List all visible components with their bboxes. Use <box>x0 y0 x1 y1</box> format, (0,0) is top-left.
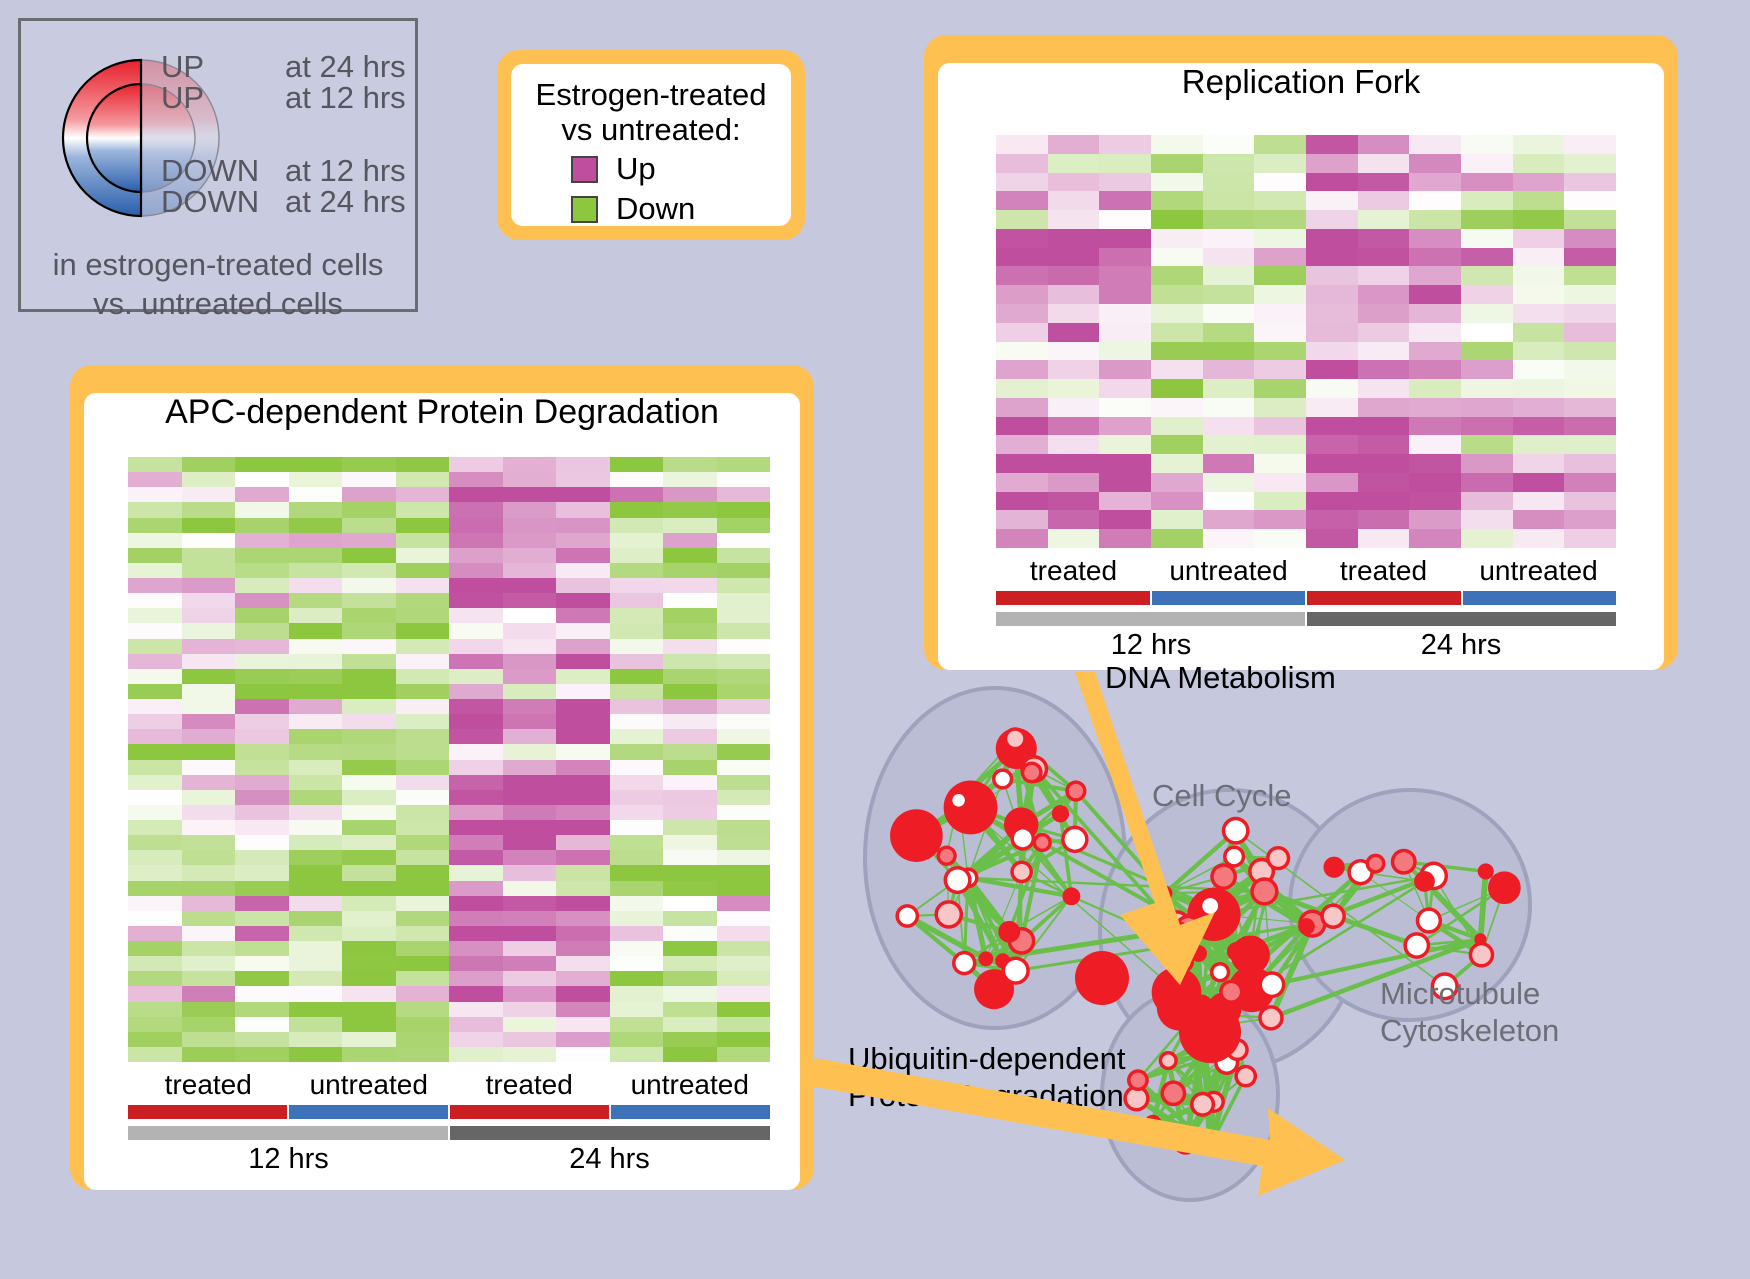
heatmap-cell <box>396 518 450 533</box>
heatmap-cell <box>396 1017 450 1032</box>
heatmap-cell <box>128 593 182 608</box>
heatmap-cell <box>235 593 289 608</box>
heatmap-cell <box>1513 248 1565 267</box>
network-node[interactable] <box>1203 1139 1217 1153</box>
heatmap-cell <box>556 744 610 759</box>
heatmap-cell <box>235 850 289 865</box>
key-time: at 12 hrs <box>285 155 411 186</box>
group-label: treated <box>128 1069 289 1101</box>
heatmap-cell <box>503 775 557 790</box>
network-node[interactable] <box>1065 829 1085 849</box>
heatmap-cell <box>663 790 717 805</box>
heatmap-cell <box>610 548 664 563</box>
heatmap-cell <box>1306 510 1358 529</box>
heatmap-cell <box>556 926 610 941</box>
network-node[interactable] <box>1062 887 1080 905</box>
heatmap-cell <box>128 911 182 926</box>
heatmap-cell <box>342 760 396 775</box>
network-node[interactable] <box>1127 1089 1146 1108</box>
heatmap-cell <box>717 775 771 790</box>
heatmap-cell <box>1203 304 1255 323</box>
heatmap-cell <box>128 729 182 744</box>
heatmap-cell <box>396 578 450 593</box>
heatmap-cell <box>342 518 396 533</box>
network-node[interactable] <box>1227 942 1246 961</box>
heatmap-cell <box>1461 154 1513 173</box>
network-node[interactable] <box>1324 907 1343 926</box>
heatmap-cell <box>556 714 610 729</box>
heatmap-cell <box>996 323 1048 342</box>
heatmap-cell <box>449 1002 503 1017</box>
heatmap-cell <box>342 941 396 956</box>
network-node[interactable] <box>1069 784 1083 798</box>
network-node[interactable] <box>944 781 998 835</box>
heatmap-cell <box>1461 210 1513 229</box>
network-node[interactable] <box>1144 1115 1162 1133</box>
heatmap-cell <box>289 775 343 790</box>
heatmap-cell <box>182 1047 236 1062</box>
heatmap-cell <box>1306 435 1358 454</box>
group-labels-replication-fork: treateduntreatedtreateduntreated <box>996 555 1616 587</box>
heatmap-cell <box>128 472 182 487</box>
network-node[interactable] <box>1202 898 1218 914</box>
heatmap-cell <box>396 865 450 880</box>
heatmap-cell <box>449 457 503 472</box>
network-node[interactable] <box>978 951 993 966</box>
heatmap-cell <box>1409 360 1461 379</box>
heatmap-cell <box>503 729 557 744</box>
heatmap-cell <box>342 578 396 593</box>
network-node[interactable] <box>1014 864 1030 880</box>
heatmap-cell <box>503 760 557 775</box>
heatmap-cell <box>1513 492 1565 511</box>
network-node[interactable] <box>1254 881 1275 902</box>
heatmap-cell <box>396 805 450 820</box>
heatmap-cell <box>289 926 343 941</box>
heatmap-cell <box>396 623 450 638</box>
heatmap-cell <box>396 971 450 986</box>
heatmap-cell <box>610 608 664 623</box>
heatmap-cell <box>663 593 717 608</box>
heatmap-cell <box>996 229 1048 248</box>
heatmap-cell <box>663 639 717 654</box>
network-node[interactable] <box>1323 857 1344 878</box>
heatmap-cell <box>663 986 717 1001</box>
heatmap-cell <box>996 360 1048 379</box>
heatmap-cell <box>503 457 557 472</box>
network-node[interactable] <box>1172 925 1186 939</box>
heatmap-cell <box>717 578 771 593</box>
heatmap-cell <box>396 775 450 790</box>
time-bar-segment <box>128 1126 450 1140</box>
heatmap-cell <box>1461 379 1513 398</box>
heatmap-cell <box>717 487 771 502</box>
heatmap-cell <box>503 593 557 608</box>
heatmap-cell <box>556 1002 610 1017</box>
heatmap-cell <box>182 911 236 926</box>
heatmap-cell <box>449 865 503 880</box>
group-label: untreated <box>1151 555 1306 587</box>
heatmap-cell <box>289 639 343 654</box>
heatmap-cell <box>1461 360 1513 379</box>
heatmap-cell <box>610 744 664 759</box>
heatmap-cell <box>449 790 503 805</box>
heatmap-cell <box>1254 266 1306 285</box>
network-node[interactable] <box>1227 849 1242 864</box>
heatmap-cell <box>235 744 289 759</box>
heatmap-cell <box>1203 154 1255 173</box>
heatmap-cell <box>1564 154 1616 173</box>
heatmap-cell <box>449 835 503 850</box>
heatmap-cell <box>663 1032 717 1047</box>
heatmap-cell <box>128 835 182 850</box>
network-node[interactable] <box>956 954 973 971</box>
network-node[interactable] <box>1394 852 1413 871</box>
heatmap-cell <box>717 639 771 654</box>
heatmap-cell <box>556 669 610 684</box>
panel-title-apc: APC-dependent Protein Degradation <box>84 393 800 432</box>
network-node[interactable] <box>1223 983 1240 1000</box>
heatmap-cell <box>1513 173 1565 192</box>
heatmap-cell <box>1099 529 1151 548</box>
heatmap-cell <box>1409 173 1461 192</box>
heatmap-cell <box>996 154 1048 173</box>
heatmap-cell <box>556 593 610 608</box>
heatmap-cell <box>1151 473 1203 492</box>
network-node[interactable] <box>1414 871 1435 892</box>
heatmap-cell <box>663 457 717 472</box>
heatmap-cell <box>610 881 664 896</box>
heatmap-cell <box>1048 510 1100 529</box>
heatmap-cell <box>663 760 717 775</box>
network-node[interactable] <box>1472 945 1491 964</box>
heatmap-cell <box>1409 135 1461 154</box>
key-time: at 24 hrs <box>285 51 411 82</box>
heatmap-cell <box>503 578 557 593</box>
heatmap-cell <box>396 487 450 502</box>
heatmap-cell <box>342 820 396 835</box>
heatmap-cell <box>1358 342 1410 361</box>
network-node[interactable] <box>1052 805 1069 822</box>
heatmap-cell <box>1099 154 1151 173</box>
heatmap-cell <box>396 533 450 548</box>
heatmap-cell <box>182 775 236 790</box>
network-node[interactable] <box>890 809 943 862</box>
heatmap-cell <box>182 608 236 623</box>
network-node[interactable] <box>1005 960 1026 981</box>
heatmap-cell <box>1409 492 1461 511</box>
heatmap-cell <box>1203 135 1255 154</box>
heatmap-cell <box>182 956 236 971</box>
heatmap-cell <box>1409 154 1461 173</box>
heatmap-cell <box>1203 492 1255 511</box>
network-node[interactable] <box>1238 1068 1254 1084</box>
network-node[interactable] <box>1024 765 1039 780</box>
heatmap-cell <box>610 593 664 608</box>
heatmap-cell <box>1151 360 1203 379</box>
heatmap-cell <box>1151 191 1203 210</box>
heatmap-cell <box>289 684 343 699</box>
heatmap-cell <box>128 881 182 896</box>
heatmap-cell <box>717 714 771 729</box>
heatmap-cell <box>610 850 664 865</box>
heatmap-cell <box>663 956 717 971</box>
heatmap-cell <box>1099 360 1151 379</box>
network-node[interactable] <box>1214 867 1234 887</box>
network-node[interactable] <box>1164 1084 1183 1103</box>
heatmap-cell <box>556 1017 610 1032</box>
heatmap-cell <box>1099 210 1151 229</box>
heatmap-cell <box>289 578 343 593</box>
heatmap-cell <box>610 714 664 729</box>
heatmap-cell <box>449 578 503 593</box>
heatmap-cell <box>289 971 343 986</box>
heatmap-cell <box>289 593 343 608</box>
heatmap-cell <box>663 1047 717 1062</box>
heatmap-cell <box>1203 473 1255 492</box>
heatmap-cell <box>1306 398 1358 417</box>
heatmap-cell <box>1461 529 1513 548</box>
heatmap-cell <box>556 1032 610 1047</box>
heatmap-cell <box>342 835 396 850</box>
time-bar-segment <box>450 1126 770 1140</box>
network-node[interactable] <box>938 904 960 926</box>
heatmap-cell <box>1358 379 1410 398</box>
key-footer-line2: vs. untreated cells <box>21 285 415 324</box>
heatmap-cell <box>1048 266 1100 285</box>
heatmap-cell <box>1254 454 1306 473</box>
network-node[interactable] <box>1262 1009 1281 1028</box>
heatmap-cell <box>235 669 289 684</box>
heatmap-cell <box>449 563 503 578</box>
heatmap-cell <box>342 548 396 563</box>
heatmap-cell <box>1409 379 1461 398</box>
heatmap-cell <box>1306 529 1358 548</box>
heatmap-cell <box>1048 529 1100 548</box>
heatmap-cell <box>610 563 664 578</box>
heatmap-cell <box>610 639 664 654</box>
heatmap-cell <box>1409 529 1461 548</box>
heatmap-cell <box>289 563 343 578</box>
network-node[interactable] <box>1478 863 1494 879</box>
heatmap-cell <box>1254 248 1306 267</box>
heatmap-cell <box>1099 492 1151 511</box>
network-node[interactable] <box>1190 945 1207 962</box>
heatmap-cell <box>717 941 771 956</box>
heatmap-cell <box>1151 417 1203 436</box>
heatmap-cell <box>182 926 236 941</box>
heatmap-cell <box>342 775 396 790</box>
treatment-bar-segment <box>450 1105 611 1119</box>
network-node[interactable] <box>952 794 965 807</box>
heatmap-cell <box>556 654 610 669</box>
heatmap-cell <box>396 472 450 487</box>
heatmap-cell <box>396 699 450 714</box>
heatmap-cell <box>128 790 182 805</box>
network-node[interactable] <box>1213 966 1226 979</box>
heatmap-cell <box>503 533 557 548</box>
network-node[interactable] <box>947 870 968 891</box>
heatmap-cell <box>396 926 450 941</box>
heatmap-cell <box>1461 304 1513 323</box>
heatmap-cell <box>610 956 664 971</box>
heatmap-cell <box>182 744 236 759</box>
network-node[interactable] <box>1177 1133 1195 1151</box>
heatmap-cell <box>182 623 236 638</box>
heatmap-cell <box>717 1032 771 1047</box>
heatmap-cell <box>289 760 343 775</box>
heatmap-cell <box>1513 398 1565 417</box>
heatmap-cell <box>128 865 182 880</box>
heatmap-cell <box>1151 154 1203 173</box>
network-node[interactable] <box>1262 975 1282 995</box>
heatmap-cell <box>342 896 396 911</box>
heatmap-cell <box>342 593 396 608</box>
network-node[interactable] <box>1407 936 1427 956</box>
heatmap-cell <box>1358 304 1410 323</box>
heatmap-cell <box>128 548 182 563</box>
heatmap-cell <box>996 266 1048 285</box>
heatmap-cell <box>235 775 289 790</box>
heatmap-cell <box>1358 173 1410 192</box>
network-node[interactable] <box>1177 955 1191 969</box>
heatmap-cell <box>996 379 1048 398</box>
heatmap-cell <box>1048 435 1100 454</box>
network-node[interactable] <box>1131 1073 1146 1088</box>
heatmap-cell <box>182 472 236 487</box>
heatmap-cell <box>1306 191 1358 210</box>
network-node[interactable] <box>1419 911 1438 930</box>
heatmap-cell <box>1151 510 1203 529</box>
heatmap-cell <box>556 684 610 699</box>
heatmap-cell <box>1358 285 1410 304</box>
heatmap-cell <box>182 639 236 654</box>
heatmap-cell <box>235 518 289 533</box>
heatmap-cell <box>1151 323 1203 342</box>
heatmap-cell <box>396 502 450 517</box>
heatmap-cell <box>663 608 717 623</box>
heatmap-cell <box>717 881 771 896</box>
heatmap-cell <box>503 835 557 850</box>
heatmap-cell <box>503 805 557 820</box>
heatmap-cell <box>556 971 610 986</box>
heatmap-cell <box>610 1047 664 1062</box>
network-node[interactable] <box>1179 1001 1241 1063</box>
heatmap-cell <box>1564 173 1616 192</box>
heatmap-cell <box>235 608 289 623</box>
heatmap-cell <box>396 563 450 578</box>
heatmap-cell <box>503 623 557 638</box>
heatmap-cell <box>289 669 343 684</box>
heatmap-cell <box>235 654 289 669</box>
heatmap-cell <box>1099 417 1151 436</box>
heatmap-cell <box>342 669 396 684</box>
heatmap-cell <box>503 608 557 623</box>
heatmap-cell <box>342 714 396 729</box>
network-node[interactable] <box>1075 951 1129 1005</box>
heatmap-cell <box>1203 191 1255 210</box>
network-node[interactable] <box>998 921 1020 943</box>
heatmap-cell <box>1306 135 1358 154</box>
heatmap-cell <box>235 623 289 638</box>
network-node[interactable] <box>940 849 953 862</box>
heatmap-cell <box>342 699 396 714</box>
heatmap-cell <box>1461 229 1513 248</box>
network-node[interactable] <box>1488 871 1521 904</box>
heatmap-cell <box>1306 285 1358 304</box>
heatmap-cell <box>610 971 664 986</box>
cluster-label-ubiquitin: Ubiquitin-dependent Protein Degradation <box>848 1040 1126 1114</box>
network-node[interactable] <box>1225 820 1246 841</box>
heatmap-cell <box>1151 529 1203 548</box>
apc-degradation-panel: APC-dependent Protein Degradation treate… <box>70 365 814 1190</box>
heatmap-cell <box>396 457 450 472</box>
heatmap-cell <box>449 548 503 563</box>
heatmap-cell <box>449 986 503 1001</box>
heatmap-cell <box>996 529 1048 548</box>
heatmap-cell <box>1564 360 1616 379</box>
network-node[interactable] <box>1298 918 1315 935</box>
heatmap-cell <box>235 896 289 911</box>
heatmap-cell <box>1513 210 1565 229</box>
network-node[interactable] <box>1162 1055 1174 1067</box>
heatmap-cell <box>342 865 396 880</box>
heatmap-cell <box>1358 529 1410 548</box>
heatmap-cell <box>396 1002 450 1017</box>
heatmap-cell <box>717 502 771 517</box>
heatmap-cell <box>503 699 557 714</box>
key-footer: in estrogen-treated cells vs. untreated … <box>21 246 415 324</box>
heatmap-cell <box>396 593 450 608</box>
heatmap-cell <box>1048 473 1100 492</box>
network-node[interactable] <box>1036 836 1048 848</box>
network-node[interactable] <box>1007 731 1023 747</box>
network-node[interactable] <box>1369 857 1382 870</box>
group-label: treated <box>1306 555 1461 587</box>
heatmap-cell <box>182 1032 236 1047</box>
heatmap-cell <box>1461 510 1513 529</box>
heatmap-cell <box>449 593 503 608</box>
heatmap-cell <box>1151 135 1203 154</box>
heatmap-cell <box>717 669 771 684</box>
heatmap-cell <box>1461 173 1513 192</box>
heatmap-cell <box>1306 210 1358 229</box>
network-node[interactable] <box>1194 1095 1212 1113</box>
heatmap-cell <box>1254 417 1306 436</box>
heatmap-cell <box>182 563 236 578</box>
network-node[interactable] <box>1158 886 1173 901</box>
heatmap-cell <box>663 699 717 714</box>
heatmap-cell <box>610 896 664 911</box>
network-node[interactable] <box>899 908 916 925</box>
heatmap-cell <box>610 684 664 699</box>
heatmap-cell <box>1564 435 1616 454</box>
heatmap-cell <box>235 926 289 941</box>
heatmap-apc <box>128 457 770 1062</box>
heatmap-cell <box>717 926 771 941</box>
heatmap-cell <box>663 941 717 956</box>
heatmap-cell <box>1048 248 1100 267</box>
heatmap-cell <box>1099 248 1151 267</box>
heatmap-cell <box>610 623 664 638</box>
heatmap-cell <box>717 790 771 805</box>
network-node[interactable] <box>1270 849 1287 866</box>
treatment-bar-segment <box>289 1105 450 1119</box>
heatmap-cell <box>610 790 664 805</box>
heatmap-cell <box>289 457 343 472</box>
network-node[interactable] <box>1014 830 1032 848</box>
network-node[interactable] <box>996 772 1010 786</box>
